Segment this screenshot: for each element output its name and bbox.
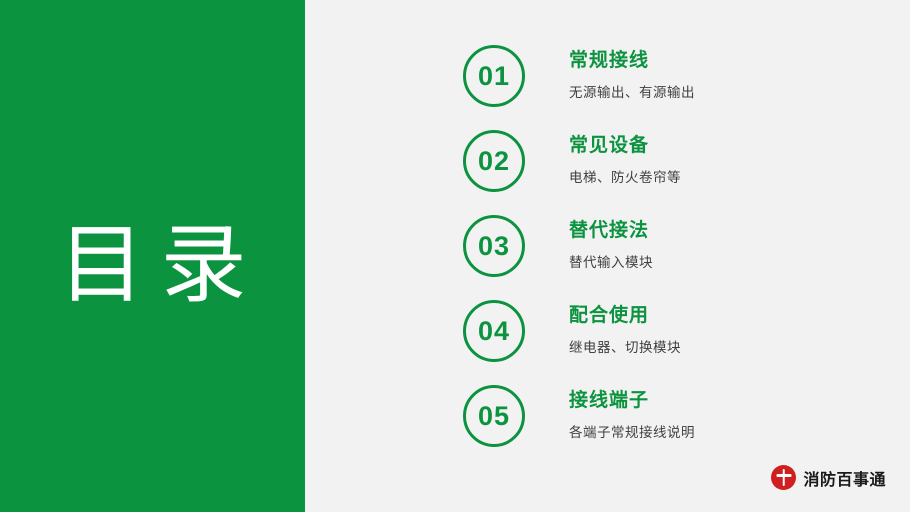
list-item[interactable]: 02 常见设备 电梯、防火卷帘等 bbox=[463, 130, 893, 215]
list-item[interactable]: 03 替代接法 替代输入模块 bbox=[463, 215, 893, 300]
right-content-panel: 01 常规接线 无源输出、有源输出 02 常见设备 电梯、防火卷帘等 03 替代… bbox=[305, 0, 910, 512]
brand-logo: 消防百事通 bbox=[771, 465, 886, 490]
list-item[interactable]: 05 接线端子 各端子常规接线说明 bbox=[463, 385, 893, 470]
item-number-badge: 02 bbox=[463, 130, 525, 192]
item-number-badge: 03 bbox=[463, 215, 525, 277]
item-text-block: 接线端子 各端子常规接线说明 bbox=[569, 385, 695, 441]
item-title: 配合使用 bbox=[569, 305, 681, 328]
item-title: 常规接线 bbox=[569, 50, 695, 73]
item-subtitle: 电梯、防火卷帘等 bbox=[569, 170, 681, 186]
list-item[interactable]: 01 常规接线 无源输出、有源输出 bbox=[463, 45, 893, 130]
item-subtitle: 继电器、切换模块 bbox=[569, 340, 681, 356]
page-title: 目录 bbox=[0, 0, 305, 512]
slide: 目录 01 常规接线 无源输出、有源输出 02 常见设备 电梯、防火卷帘等 03 bbox=[0, 0, 910, 512]
list-item[interactable]: 04 配合使用 继电器、切换模块 bbox=[463, 300, 893, 385]
item-title: 常见设备 bbox=[569, 135, 681, 158]
item-text-block: 配合使用 继电器、切换模块 bbox=[569, 300, 681, 356]
item-title: 替代接法 bbox=[569, 220, 653, 243]
left-green-panel: 目录 bbox=[0, 0, 305, 512]
item-number-badge: 04 bbox=[463, 300, 525, 362]
fire-safety-cross-icon bbox=[771, 465, 796, 490]
item-text-block: 常规接线 无源输出、有源输出 bbox=[569, 45, 695, 101]
item-text-block: 常见设备 电梯、防火卷帘等 bbox=[569, 130, 681, 186]
item-number-badge: 05 bbox=[463, 385, 525, 447]
item-subtitle: 各端子常规接线说明 bbox=[569, 425, 695, 441]
item-subtitle: 替代输入模块 bbox=[569, 255, 653, 271]
item-subtitle: 无源输出、有源输出 bbox=[569, 85, 695, 101]
item-text-block: 替代接法 替代输入模块 bbox=[569, 215, 653, 271]
table-of-contents: 01 常规接线 无源输出、有源输出 02 常见设备 电梯、防火卷帘等 03 替代… bbox=[463, 45, 893, 470]
brand-name: 消防百事通 bbox=[803, 466, 886, 490]
item-number-badge: 01 bbox=[463, 45, 525, 107]
item-title: 接线端子 bbox=[569, 390, 695, 413]
